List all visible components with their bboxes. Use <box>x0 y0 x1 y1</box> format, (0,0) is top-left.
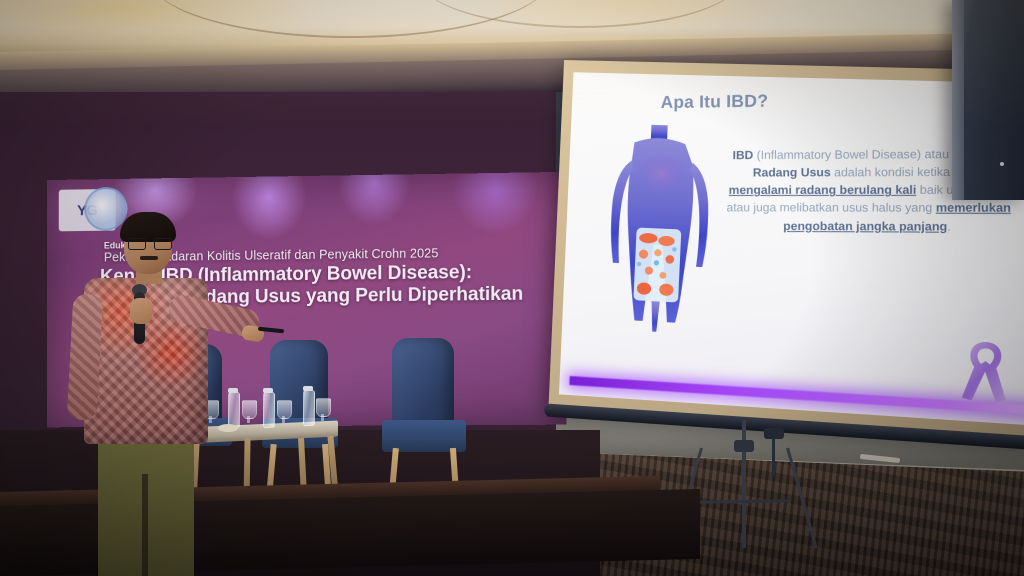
floor-mic-head <box>764 428 784 439</box>
pa-speaker-led <box>1000 162 1004 166</box>
purple-awareness-ribbon-icon <box>953 324 1018 406</box>
presenter <box>62 216 242 576</box>
presenter-moustache <box>140 256 158 260</box>
tripod-hub <box>734 440 754 452</box>
water-bottle <box>263 392 275 428</box>
conference-stage-photo: YG Edukasi Pekan Kesadaran Kolitis Ulser… <box>0 0 1024 576</box>
human-torso-intestines-illustration <box>595 121 723 359</box>
glass-stem <box>282 416 285 423</box>
bottle-cap <box>263 388 273 393</box>
eyeglasses-icon <box>128 238 172 248</box>
presenter-left-hand <box>130 298 152 324</box>
trouser-seam <box>142 474 148 576</box>
pa-speaker-edge <box>952 0 964 200</box>
water-bottle <box>303 390 315 426</box>
glass-stem <box>247 416 250 423</box>
slide-title: Apa Itu IBD? <box>661 91 769 113</box>
bottle-cap <box>303 386 313 391</box>
glass-stem <box>321 414 324 421</box>
floor-mic-stand <box>772 436 775 476</box>
